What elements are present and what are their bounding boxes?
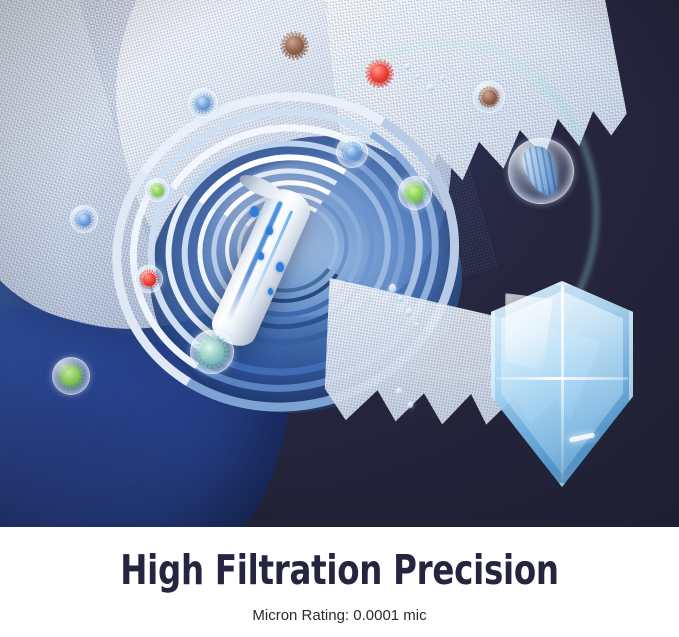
caption-area: High Filtration Precision Micron Rating:… bbox=[0, 527, 679, 637]
product-feature-card: High Filtration Precision Micron Rating:… bbox=[0, 0, 679, 637]
micron-rating-spec: Micron Rating: 0.0001 mic bbox=[0, 606, 679, 626]
photo-vignette bbox=[0, 0, 679, 527]
product-photo bbox=[0, 0, 679, 527]
feature-headline: High Filtration Precision bbox=[41, 548, 639, 592]
